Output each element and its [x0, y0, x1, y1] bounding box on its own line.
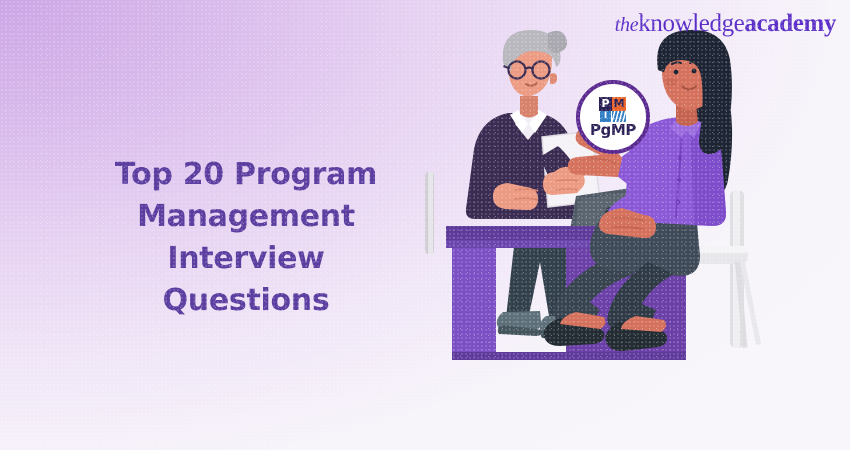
pmi-stripes-icon: [612, 111, 626, 122]
brand-logo[interactable]: theknowledgeacademy: [615, 11, 836, 36]
page-title-line-2: Management Interview: [56, 196, 436, 280]
pgmp-certification-badge: P M I PgMP: [576, 80, 650, 154]
pmi-letter-p: P: [599, 97, 612, 111]
banner-canvas: P M I PgMP Top 20 Program Management Int…: [0, 0, 850, 450]
logo-word-knowledge: knowledge: [638, 10, 744, 37]
page-title-line-3: Questions: [56, 280, 436, 322]
logo-word-the: the: [615, 14, 639, 36]
pmi-letter-m: M: [612, 97, 626, 111]
pmi-letter-i: I: [600, 111, 611, 122]
logo-word-academy: academy: [744, 10, 836, 37]
pmi-logo-icon: P M I: [598, 97, 628, 122]
page-title-line-1: Top 20 Program: [56, 154, 436, 196]
illustration: [390, 0, 850, 450]
page-title: Top 20 Program Management Interview Ques…: [56, 154, 436, 322]
badge-certification-label: PgMP: [590, 123, 636, 138]
